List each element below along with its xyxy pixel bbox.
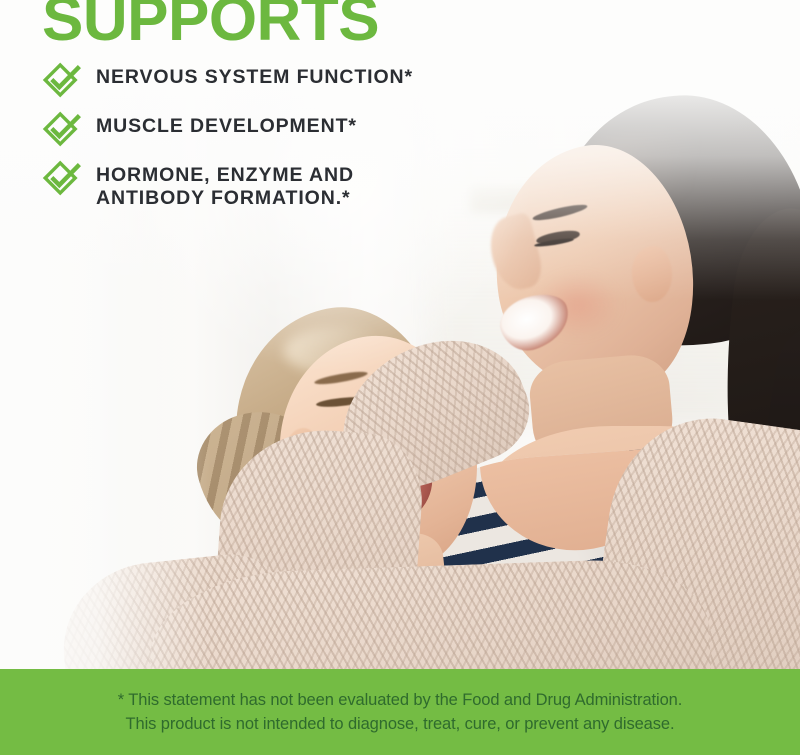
benefits-content: SUPPORTS NERVOUS SYSTEM FUNCTION*	[0, 0, 560, 210]
benefit-item-hormone-enzyme-antibody: HORMONE, ENZYME AND ANTIBODY FORMATION.*	[42, 162, 560, 210]
disclaimer-line-2: This product is not intended to diagnose…	[126, 712, 675, 736]
benefit-label: NERVOUS SYSTEM FUNCTION*	[96, 64, 413, 89]
benefit-label: MUSCLE DEVELOPMENT*	[96, 113, 357, 138]
page-title: SUPPORTS	[42, 0, 560, 46]
woman-ear	[632, 246, 672, 302]
fda-disclaimer-bar: * This statement has not been evaluated …	[0, 669, 800, 755]
benefit-label: HORMONE, ENZYME AND ANTIBODY FORMATION.*	[96, 162, 354, 210]
benefit-item-muscle-development: MUSCLE DEVELOPMENT*	[42, 113, 560, 148]
disclaimer-line-1: * This statement has not been evaluated …	[118, 688, 682, 712]
check-diamond-icon	[42, 59, 82, 99]
benefits-list: NERVOUS SYSTEM FUNCTION* MUSCLE DEVELOPM…	[42, 64, 560, 210]
check-diamond-icon	[42, 157, 82, 197]
supports-benefits-panel: SUPPORTS NERVOUS SYSTEM FUNCTION*	[0, 0, 800, 755]
check-diamond-icon	[42, 108, 82, 148]
benefit-item-nervous-system: NERVOUS SYSTEM FUNCTION*	[42, 64, 560, 99]
